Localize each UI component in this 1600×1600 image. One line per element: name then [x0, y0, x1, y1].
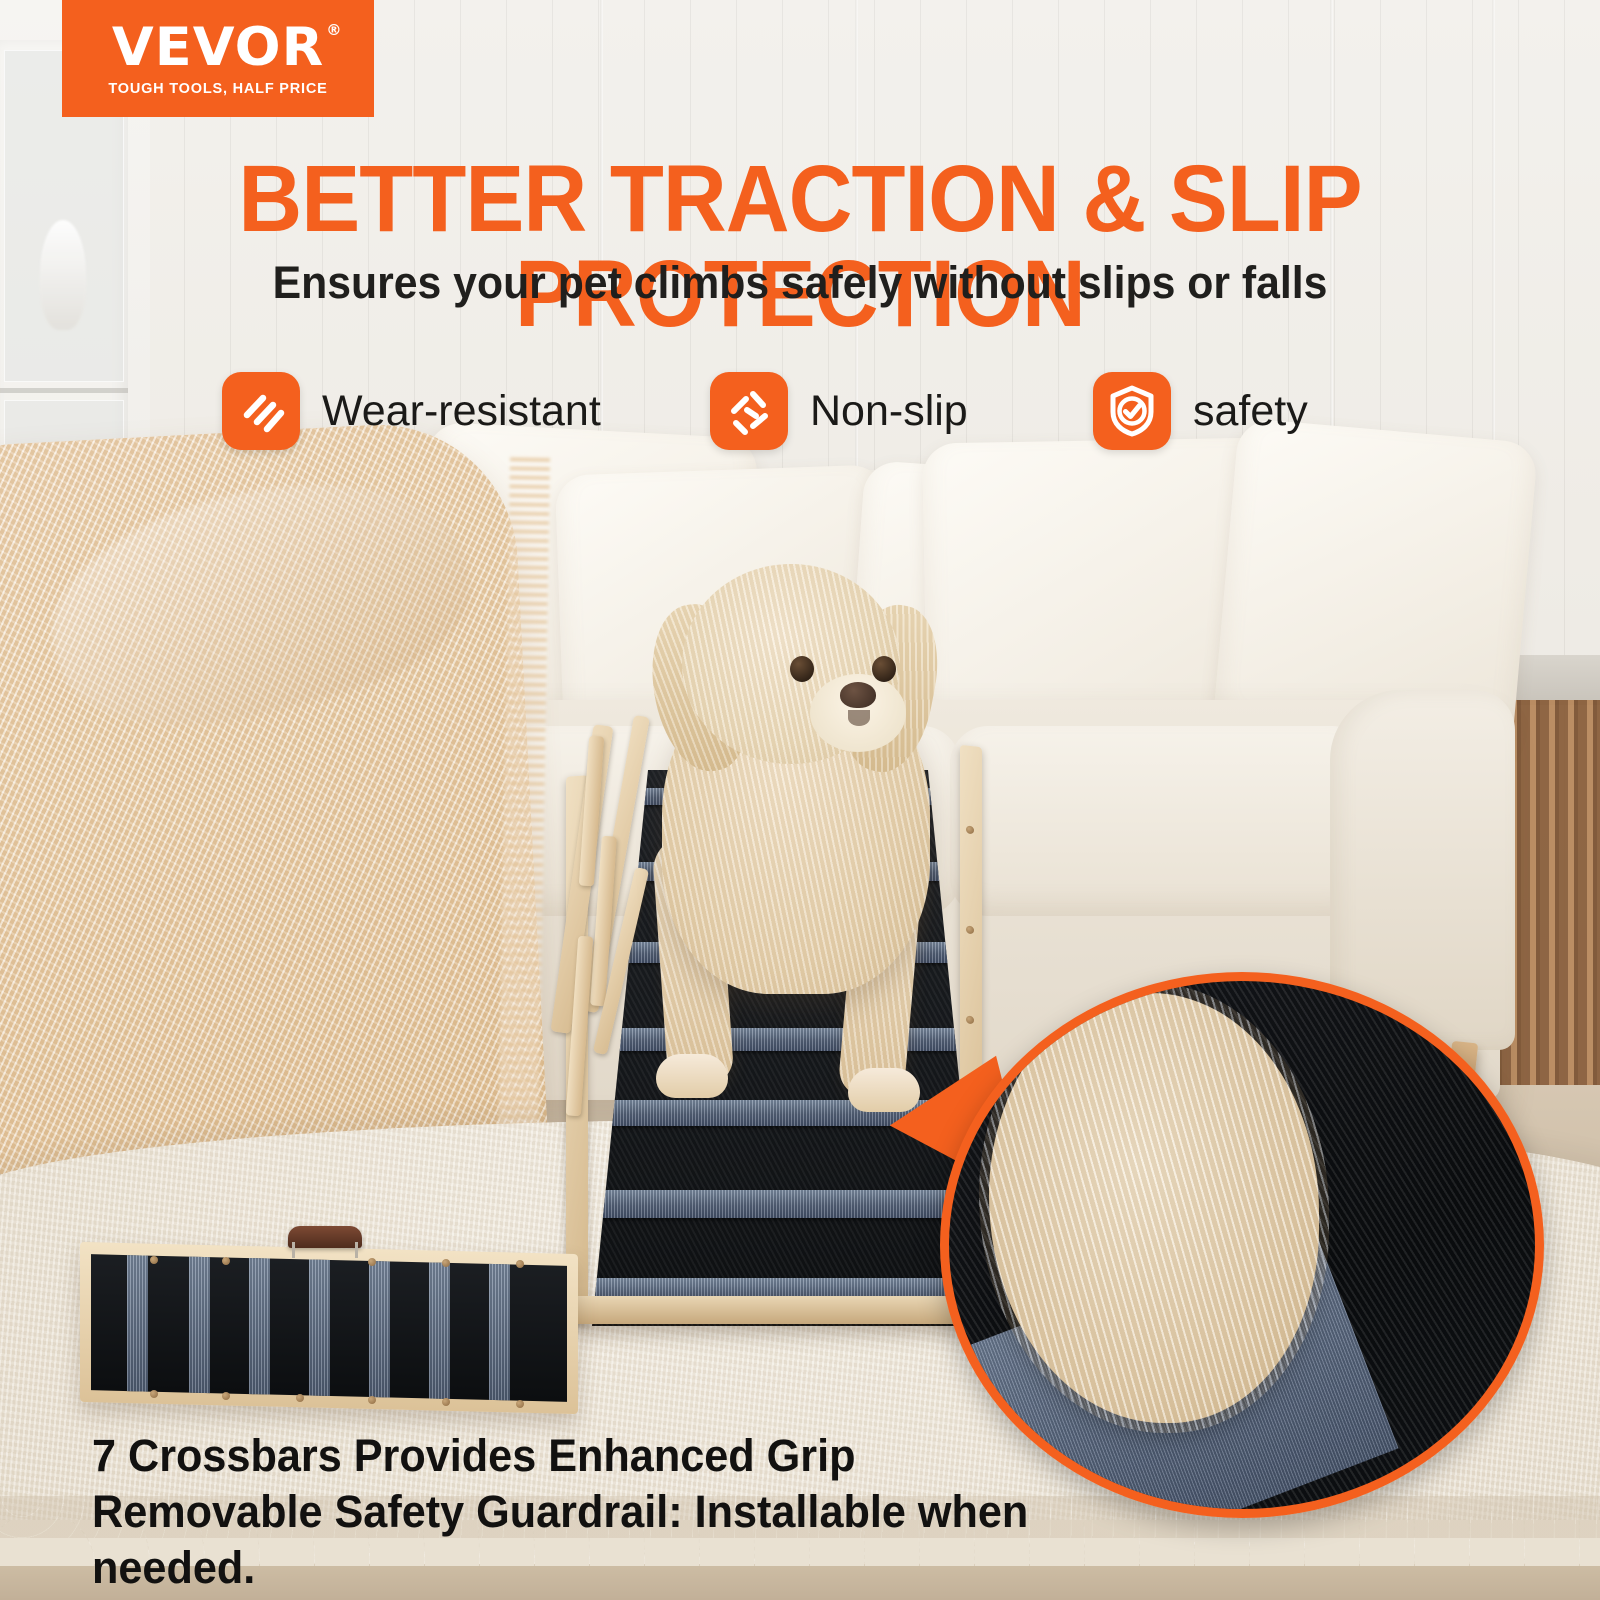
wear-resistant-icon: [222, 372, 300, 450]
folded-crossbar: [249, 1258, 270, 1395]
dog-mouth: [848, 710, 870, 726]
throw-blanket: [0, 418, 549, 1186]
folded-crossbar: [429, 1262, 450, 1399]
brand-tagline: TOUGH TOOLS, HALF PRICE: [108, 81, 327, 97]
feature-wear-resistant: Wear-resistant: [222, 372, 601, 450]
dog-eye: [872, 656, 896, 682]
folded-crossbar: [189, 1257, 210, 1394]
page-title: BETTER TRACTION & SLIP PROTECTION: [56, 152, 1544, 342]
dog-paw: [656, 1054, 728, 1098]
carry-handle: [288, 1226, 362, 1248]
folded-crossbar: [127, 1255, 148, 1392]
non-slip-icon: [710, 372, 788, 450]
ramp-foot: [572, 1296, 992, 1324]
dog: [620, 556, 990, 1096]
shield-check-icon: [1093, 372, 1171, 450]
folded-crossbar: [489, 1264, 510, 1401]
brand-logo: VEVOR ® TOUGH TOOLS, HALF PRICE: [62, 0, 374, 117]
page-subtitle: Ensures your pet climbs safely without s…: [40, 258, 1560, 308]
brand-name: VEVOR ®: [112, 21, 324, 74]
folded-crossbar: [309, 1260, 330, 1397]
feature-label: safety: [1193, 387, 1308, 436]
folded-crossbar: [369, 1261, 390, 1398]
dog-fur-closeup: [989, 993, 1319, 1423]
product-infographic: VEVOR ® TOUGH TOOLS, HALF PRICE BETTER T…: [0, 0, 1600, 1600]
bottom-caption: 7 Crossbars Provides Enhanced Grip Remov…: [92, 1428, 1110, 1595]
feature-label: Wear-resistant: [322, 387, 601, 436]
feature-list: Wear-resistant Non-slip: [0, 372, 1600, 456]
feature-label: Non-slip: [810, 387, 968, 436]
brand-name-text: VEVOR: [112, 17, 324, 78]
caption-line-2: Removable Safety Guardrail: Installable …: [92, 1484, 1110, 1596]
folded-ramp: [80, 1248, 578, 1408]
feature-non-slip: Non-slip: [710, 372, 968, 450]
dog-eye: [790, 656, 814, 682]
caption-line-1: 7 Crossbars Provides Enhanced Grip: [92, 1428, 1110, 1484]
registered-mark: ®: [326, 23, 342, 38]
feature-safety: safety: [1093, 372, 1308, 450]
dog-nose: [840, 682, 876, 708]
dog-head: [682, 564, 900, 764]
folded-ramp-deck: [91, 1254, 567, 1402]
